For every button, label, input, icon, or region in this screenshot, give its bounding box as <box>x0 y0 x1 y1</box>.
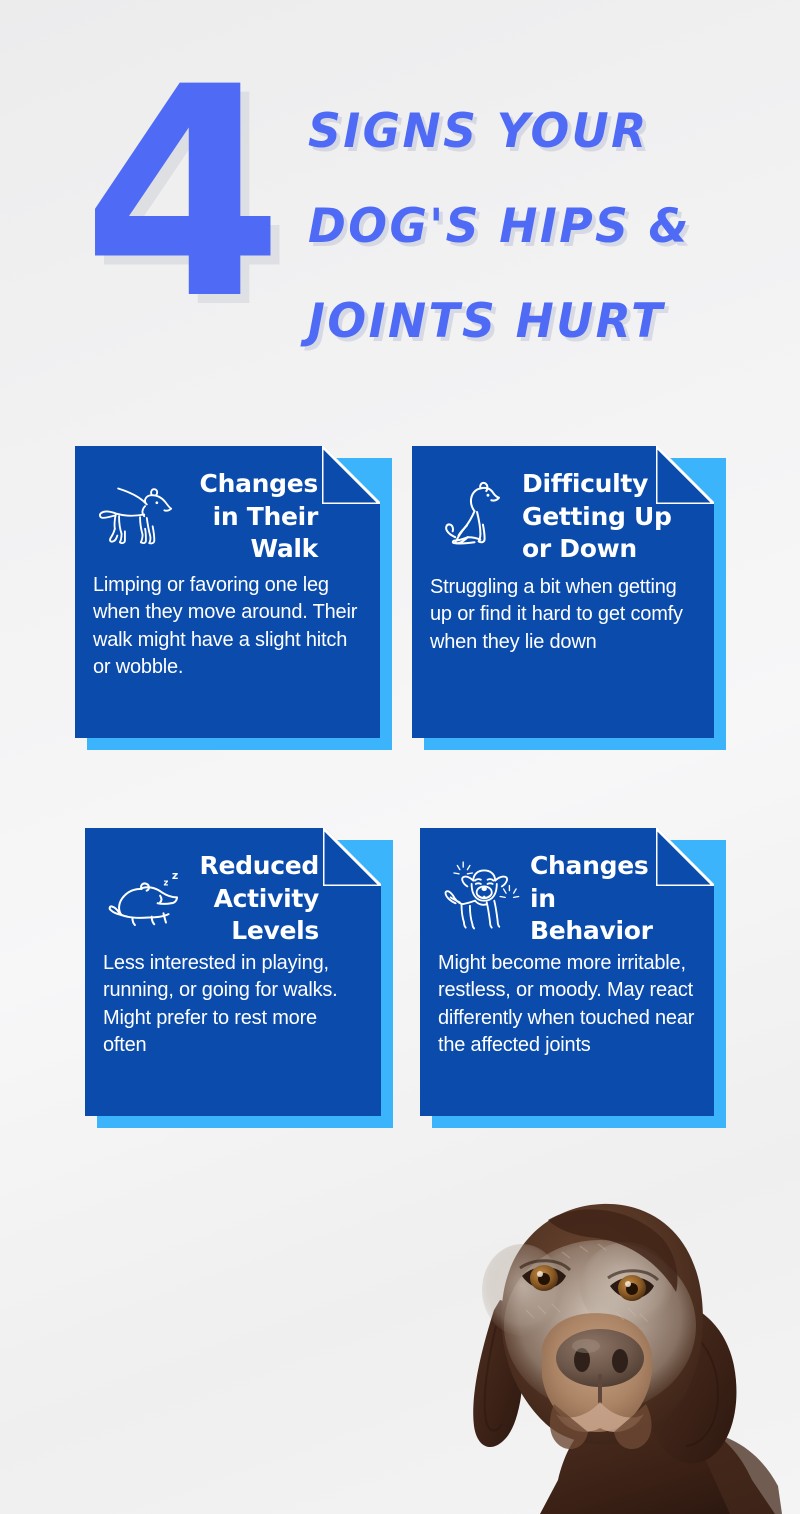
svg-text:z: z <box>172 869 178 882</box>
card-heading: Difficulty Getting Up or Down <box>514 464 696 566</box>
card-surface: z z Reduced Activity Levels Less interes… <box>85 828 381 1116</box>
senior-brown-dog-portrait <box>430 1180 800 1514</box>
card-reduced-activity-levels[interactable]: z z Reduced Activity Levels Less interes… <box>85 828 381 1116</box>
card-heading: Changes in Behavior <box>522 846 696 948</box>
card-heading: Reduced Activity Levels <box>187 846 363 948</box>
dog-grumpy-icon <box>438 852 522 936</box>
card-changes-in-their-walk[interactable]: Changes in Their Walk Limping or favorin… <box>75 446 380 738</box>
card-heading: Changes in Their Walk <box>177 464 362 566</box>
dog-sleeping-icon: z z <box>103 852 187 936</box>
svg-text:z: z <box>163 878 168 888</box>
card-surface: Difficulty Getting Up or Down Struggling… <box>412 446 714 738</box>
card-surface: Changes in Behavior Might become more ir… <box>420 828 714 1116</box>
dog-walking-on-leash-icon <box>93 470 177 554</box>
card-changes-in-behavior[interactable]: Changes in Behavior Might become more ir… <box>420 828 714 1116</box>
card-body-text: Struggling a bit when getting up or find… <box>430 574 696 657</box>
card-surface: Changes in Their Walk Limping or favorin… <box>75 446 380 738</box>
card-body-text: Less interested in playing, running, or … <box>103 950 363 1060</box>
dog-sitting-icon <box>430 470 514 554</box>
card-body-text: Limping or favoring one leg when they mo… <box>93 572 362 682</box>
card-difficulty-getting-up-or-down[interactable]: Difficulty Getting Up or Down Struggling… <box>412 446 714 738</box>
card-body-text: Might become more irritable, restless, o… <box>438 950 696 1060</box>
